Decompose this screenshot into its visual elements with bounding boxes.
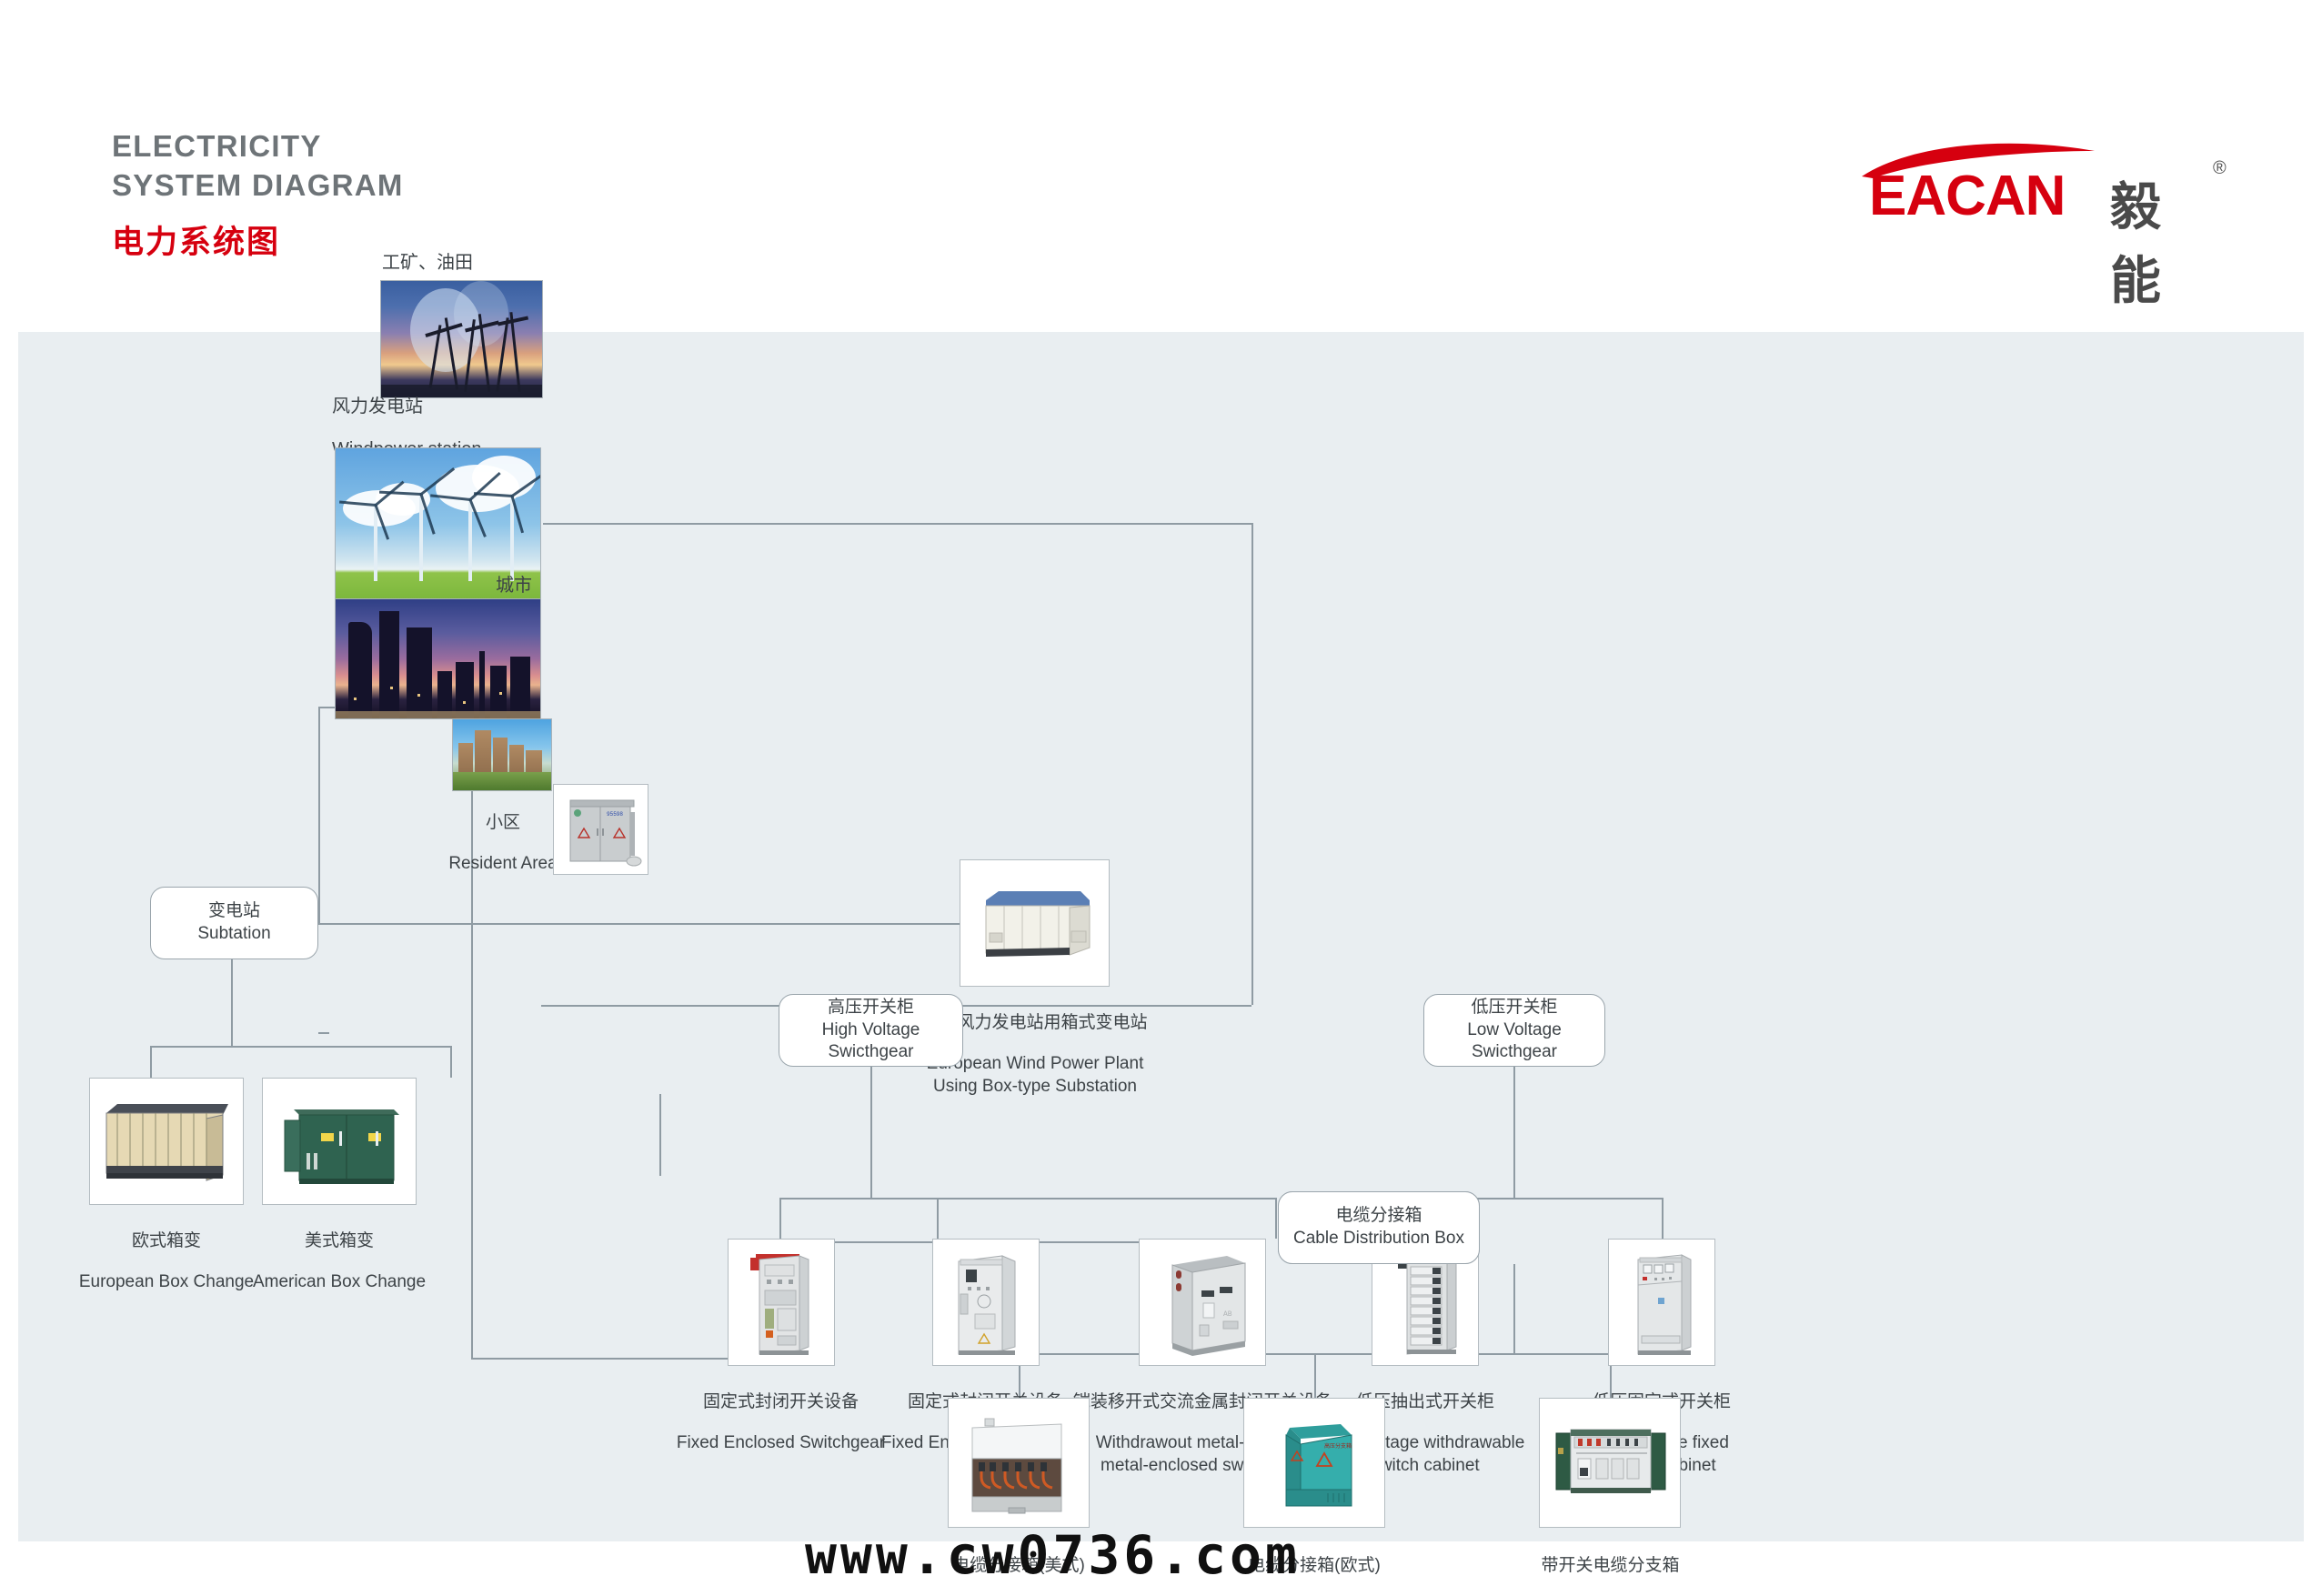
lv-fixed-cabinet-illustration bbox=[1609, 1240, 1715, 1366]
label-city-cn: 城市 bbox=[496, 574, 538, 597]
cdb-american-illustration bbox=[949, 1399, 1090, 1528]
page-title-en: ELECTRICITY SYSTEM DIAGRAM bbox=[112, 127, 404, 206]
caption-american-box-en: American Box Change bbox=[235, 1271, 444, 1293]
connector-line bbox=[1275, 1198, 1277, 1239]
connector-line bbox=[471, 1358, 744, 1360]
label-windpower-cn: 风力发电站 bbox=[332, 395, 482, 418]
node-substation-en: Subtation bbox=[197, 923, 270, 946]
connector-line bbox=[1513, 1067, 1515, 1199]
photo-american-box-change bbox=[262, 1078, 417, 1205]
connector-line bbox=[318, 1032, 329, 1034]
node-high-voltage-switchgear[interactable]: 高压开关柜 High Voltage Swicthgear bbox=[779, 994, 963, 1067]
node-cable-distribution-box-main[interactable]: 电缆分接箱 Cable Distribution Box bbox=[1278, 1191, 1480, 1264]
label-industrial-cn: 工矿、油田 bbox=[382, 251, 537, 275]
node-substation[interactable]: 变电站 Subtation bbox=[150, 887, 318, 959]
american-box-change-illustration bbox=[263, 1079, 417, 1205]
logo-wordmark: EACAN bbox=[1869, 164, 2065, 228]
page-root: ELECTRICITY SYSTEM DIAGRAM 电力系统图 EACAN 毅… bbox=[0, 0, 2322, 1596]
page-title-cn: 电力系统图 bbox=[112, 216, 280, 263]
photo-resident-area bbox=[452, 718, 552, 791]
node-low-voltage-en: Low Voltage Swicthgear bbox=[1424, 1019, 1604, 1064]
photo-cdb-american bbox=[948, 1398, 1090, 1528]
caption-hv-fixed-1-en: Fixed Enclosed Switchgear bbox=[669, 1432, 892, 1454]
connector-line bbox=[450, 1046, 452, 1078]
wind-box-substation-illustration bbox=[960, 860, 1110, 987]
hv-withdrawable-switchgear-illustration: AB bbox=[1140, 1240, 1266, 1366]
photo-cdb-european: 高压分支箱 bbox=[1243, 1398, 1385, 1528]
eacan-logo: EACAN 毅能 ® bbox=[1851, 136, 2215, 232]
node-high-voltage-cn: 高压开关柜 bbox=[828, 997, 914, 1019]
node-cable-distribution-cn: 电缆分接箱 bbox=[1335, 1205, 1422, 1228]
hv-fixed-switchgear-2-illustration bbox=[933, 1240, 1040, 1366]
node-low-voltage-cn: 低压开关柜 bbox=[1471, 997, 1557, 1019]
label-resident-cn: 小区 bbox=[434, 812, 572, 834]
caption-hv-fixed-1: 固定式封闭开关设备 Fixed Enclosed Switchgear bbox=[669, 1373, 892, 1473]
connector-line bbox=[659, 1094, 661, 1176]
label-resident-area: 小区 Resident Area bbox=[434, 794, 572, 894]
svg-text:高压分支箱: 高压分支箱 bbox=[1324, 1442, 1352, 1450]
diagram-canvas: 工矿、油田 Industrial & Mining Enterprise,Oil… bbox=[18, 332, 2304, 1541]
svg-text:AB: AB bbox=[1223, 1310, 1232, 1319]
caption-american-box-cn: 美式箱变 bbox=[235, 1230, 444, 1252]
connector-line bbox=[779, 1198, 781, 1239]
watermark-url: www.cw0736.com bbox=[805, 1524, 1301, 1586]
cdb-european-illustration: 高压分支箱 bbox=[1244, 1399, 1385, 1528]
photo-lv-fixed-cabinet bbox=[1608, 1239, 1715, 1366]
logo-wordmark-cn: 毅能 bbox=[2110, 166, 2215, 314]
photo-hv-fixed-switchgear-2 bbox=[932, 1239, 1040, 1366]
connector-line bbox=[779, 1198, 1275, 1200]
connector-line bbox=[937, 1198, 939, 1239]
connector-line bbox=[1251, 523, 1253, 1005]
european-box-change-illustration bbox=[90, 1079, 244, 1205]
photo-cable-branch-box-switch bbox=[1539, 1398, 1681, 1528]
connector-line bbox=[150, 1046, 152, 1078]
connector-line bbox=[1513, 1264, 1515, 1355]
registered-trademark-icon: ® bbox=[2213, 158, 2227, 179]
node-substation-cn: 变电站 bbox=[208, 900, 260, 923]
connector-line bbox=[471, 1178, 473, 1360]
connector-line bbox=[1662, 1198, 1664, 1239]
connector-line bbox=[870, 1067, 872, 1199]
hv-fixed-switchgear-1-illustration bbox=[729, 1240, 835, 1366]
outdoor-cable-box-illustration: 95598 bbox=[554, 785, 648, 875]
photo-hv-fixed-switchgear-1 bbox=[728, 1239, 835, 1366]
connector-line bbox=[543, 523, 1252, 525]
photo-european-box-change bbox=[89, 1078, 244, 1205]
svg-text:95598: 95598 bbox=[607, 811, 623, 818]
photo-wind-box-substation bbox=[960, 859, 1110, 987]
connector-line bbox=[231, 959, 233, 1046]
node-low-voltage-switchgear[interactable]: 低压开关柜 Low Voltage Swicthgear bbox=[1423, 994, 1605, 1067]
caption-cable-branch-switch: 带开关电缆分支箱 Cable branch box with switch bbox=[1490, 1537, 1731, 1596]
caption-hv-fixed-1-cn: 固定式封闭开关设备 bbox=[669, 1391, 892, 1413]
caption-american-box-change: 美式箱变 American Box Change bbox=[235, 1212, 444, 1312]
photo-hv-withdrawable-switchgear: AB bbox=[1139, 1239, 1266, 1366]
photo-outdoor-cable-box: 95598 bbox=[553, 784, 648, 875]
node-cable-distribution-en: Cable Distribution Box bbox=[1293, 1228, 1464, 1250]
caption-cable-branch-cn: 带开关电缆分支箱 bbox=[1490, 1555, 1731, 1577]
connector-line bbox=[318, 707, 320, 925]
connector-line bbox=[318, 923, 564, 925]
node-high-voltage-en: High Voltage Swicthgear bbox=[779, 1019, 962, 1064]
cable-branch-box-switch-illustration bbox=[1540, 1399, 1681, 1528]
label-resident-en: Resident Area bbox=[434, 853, 572, 875]
connector-line bbox=[541, 923, 960, 925]
photo-city bbox=[335, 598, 541, 719]
connector-line bbox=[150, 1046, 450, 1048]
